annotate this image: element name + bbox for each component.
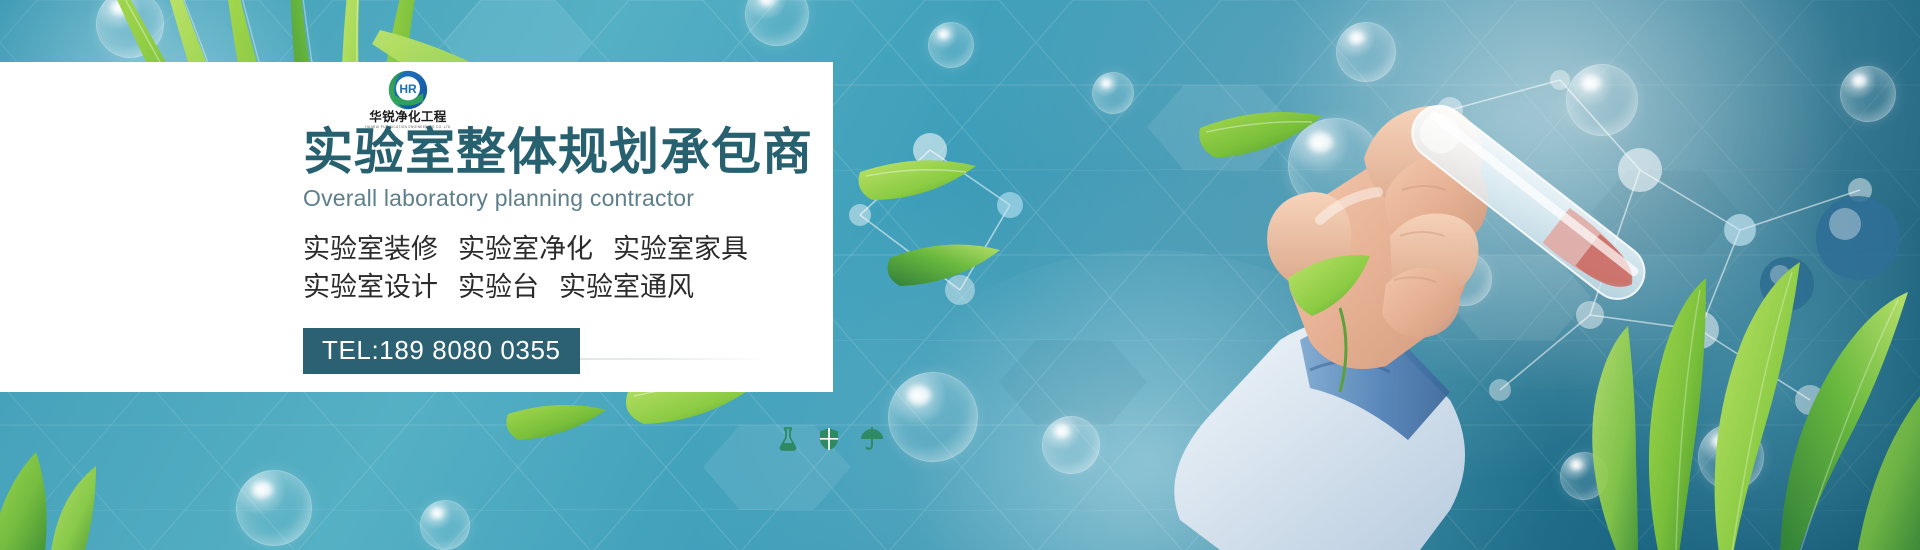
glass-bubble <box>236 470 312 546</box>
service-item[interactable]: 实验台 <box>458 272 539 303</box>
service-item[interactable]: 实验室设计 <box>303 272 438 303</box>
company-logo[interactable]: HR 华锐净化工程 HUARUI PURIFICATION ENGINEERIN… <box>363 70 453 129</box>
hand-holding-test-tube-photo <box>1150 40 1670 550</box>
service-item[interactable]: 实验室通风 <box>559 272 694 303</box>
feature-icon-row <box>778 427 884 451</box>
umbrella-icon <box>860 427 884 451</box>
svg-text:HR: HR <box>399 82 417 96</box>
service-line: 实验室设计实验台实验室通风 <box>303 269 823 307</box>
glass-bubble <box>1092 72 1134 114</box>
flask-icon <box>778 427 798 451</box>
glass-bubble <box>928 22 974 68</box>
glass-bubble <box>888 372 978 462</box>
phone-badge[interactable]: TEL:189 8080 0355 <box>303 328 580 374</box>
glass-bubble <box>1698 424 1764 490</box>
glass-bubble <box>1840 66 1896 122</box>
glass-bubble <box>420 500 470 550</box>
page-subtitle: Overall laboratory planning contractor <box>303 185 823 212</box>
service-item[interactable]: 实验室家具 <box>613 234 748 265</box>
service-line: 实验室装修实验室净化实验室家具 <box>303 231 823 269</box>
service-item[interactable]: 实验室装修 <box>303 234 438 265</box>
logo-company-name-cn: 华锐净化工程 <box>363 111 453 124</box>
headline-copy-block: 实验室整体规划承包商 Overall laboratory planning c… <box>303 125 823 374</box>
service-item[interactable]: 实验室净化 <box>458 234 593 265</box>
shield-icon <box>819 427 839 451</box>
service-list: 实验室装修实验室净化实验室家具 实验室设计实验台实验室通风 <box>303 231 823 308</box>
hr-monogram-icon: HR <box>388 70 428 110</box>
promo-banner: HR 华锐净化工程 HUARUI PURIFICATION ENGINEERIN… <box>0 0 1920 550</box>
glass-bubble <box>1042 416 1100 474</box>
page-title: 实验室整体规划承包商 <box>303 125 823 179</box>
